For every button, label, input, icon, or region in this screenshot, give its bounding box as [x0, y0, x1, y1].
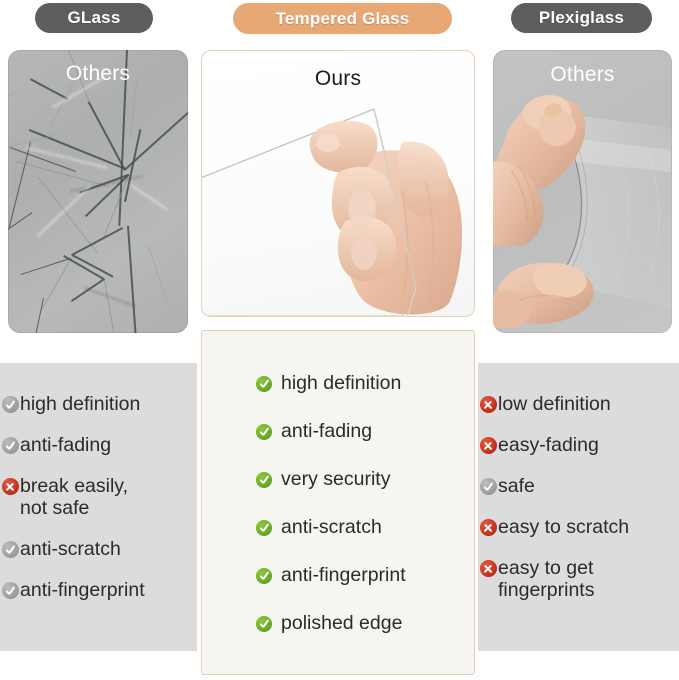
- list-item: high definition: [202, 372, 474, 395]
- badge-tempered-glass: Tempered Glass: [233, 3, 452, 34]
- list-item-label: anti-fading: [20, 434, 111, 456]
- list-item-label: anti-fading: [281, 420, 372, 443]
- list-item-label: easy-fading: [498, 434, 599, 456]
- list-item-label: high definition: [281, 372, 401, 395]
- check-icon-gray: [480, 478, 497, 495]
- x-icon-red: [480, 396, 497, 413]
- list-item-label: very security: [281, 468, 390, 491]
- list-item: anti-scratch: [202, 516, 474, 539]
- check-icon-gray: [2, 582, 19, 599]
- list-item-label: anti-scratch: [20, 538, 121, 560]
- badge-plexiglass: Plexiglass: [511, 3, 652, 33]
- badge-tempered-glass-label: Tempered Glass: [276, 9, 410, 29]
- feature-list-tempered-glass: high definition anti-fading very securit…: [201, 330, 475, 675]
- list-item: easy-fading: [478, 434, 679, 456]
- list-item-label: safe: [498, 475, 535, 497]
- x-icon-red: [480, 519, 497, 536]
- list-item: safe: [478, 475, 679, 497]
- list-item: anti-fading: [202, 420, 474, 443]
- list-item: anti-scratch: [0, 538, 197, 560]
- plexiglass-sheet-shape: [493, 50, 672, 333]
- list-item: very security: [202, 468, 474, 491]
- photo-left-label: Others: [8, 62, 188, 86]
- feature-list-tempered-glass-items: high definition anti-fading very securit…: [202, 331, 474, 635]
- photo-plexiglass-bending: Others: [493, 50, 672, 333]
- check-icon-gray: [2, 396, 19, 413]
- list-item-label: anti-scratch: [281, 516, 382, 539]
- photo-center-label: Ours: [202, 67, 474, 91]
- check-icon-green: [256, 424, 272, 440]
- list-item-label: anti-fingerprint: [281, 564, 406, 587]
- list-item-label: anti-fingerprint: [20, 579, 145, 601]
- list-item: anti-fingerprint: [202, 564, 474, 587]
- check-icon-gray: [2, 437, 19, 454]
- list-item-label: high definition: [20, 393, 140, 415]
- feature-list-plexiglass: low definition easy-fading safe easy to …: [478, 363, 679, 651]
- list-item: high definition: [0, 393, 197, 415]
- comparison-infographic: GLass Tempered Glass Plexiglass: [0, 0, 679, 680]
- check-icon-gray: [2, 541, 19, 558]
- list-item: easy to scratch: [478, 516, 679, 538]
- check-icon-green: [256, 376, 272, 392]
- list-item-label: polished edge: [281, 612, 402, 635]
- list-item-label: break easily, not safe: [20, 475, 128, 519]
- x-icon-red: [480, 437, 497, 454]
- list-item-label: easy to scratch: [498, 516, 629, 538]
- badge-plexiglass-label: Plexiglass: [539, 8, 624, 28]
- check-icon-green: [256, 472, 272, 488]
- check-icon-green: [256, 520, 272, 536]
- x-icon-red: [2, 478, 19, 495]
- list-item: anti-fingerprint: [0, 579, 197, 601]
- photo-tempered-glass-hand: Ours: [201, 50, 475, 317]
- list-item: low definition: [478, 393, 679, 415]
- list-item: break easily, not safe: [0, 475, 197, 519]
- list-item: polished edge: [202, 612, 474, 635]
- list-item: easy to get fingerprints: [478, 557, 679, 601]
- feature-list-plexiglass-items: low definition easy-fading safe easy to …: [478, 393, 679, 601]
- photo-right-label: Others: [493, 63, 672, 87]
- list-item-label: easy to get fingerprints: [498, 557, 594, 601]
- badge-glass-label: GLass: [68, 8, 121, 28]
- feature-list-glass-items: high definition anti-fading break easily…: [0, 393, 197, 601]
- check-icon-green: [256, 616, 272, 632]
- list-item-label: low definition: [498, 393, 611, 415]
- list-item: anti-fading: [0, 434, 197, 456]
- badge-glass: GLass: [35, 3, 153, 33]
- photo-cracked-glass: Others: [8, 50, 188, 333]
- feature-list-glass: high definition anti-fading break easily…: [0, 363, 197, 651]
- check-icon-green: [256, 568, 272, 584]
- x-icon-red: [480, 560, 497, 577]
